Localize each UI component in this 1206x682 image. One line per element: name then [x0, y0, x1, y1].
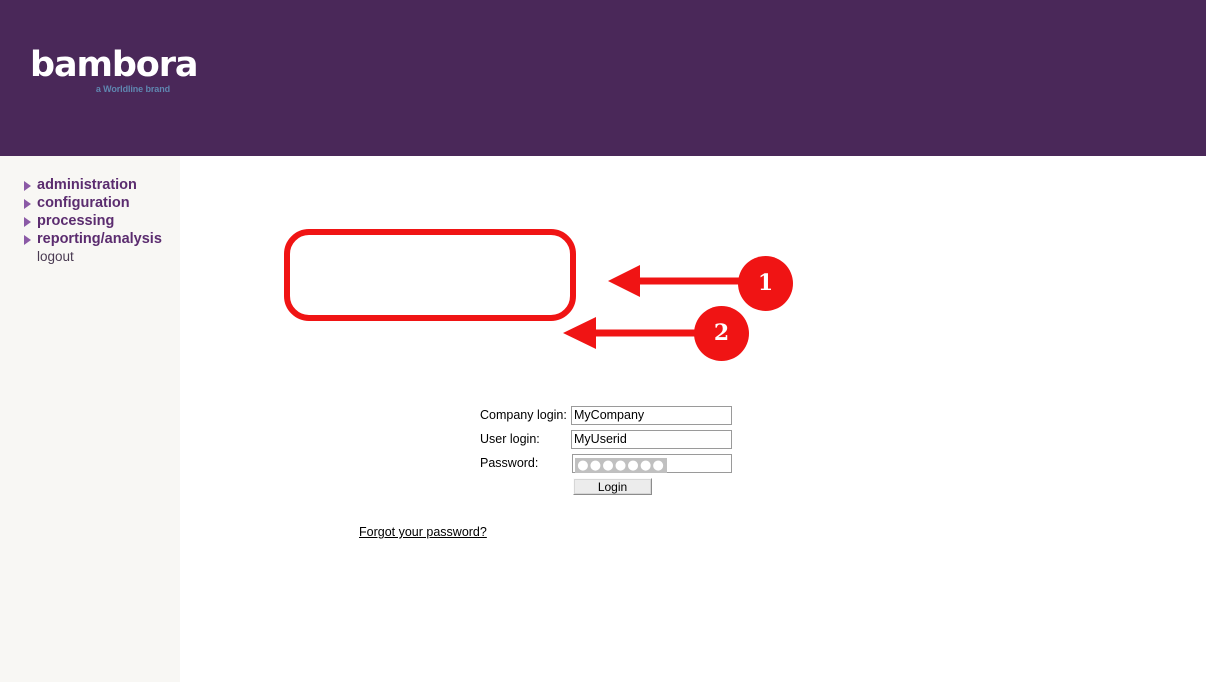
triangle-right-icon — [24, 199, 31, 209]
sidebar-item-label: configuration — [37, 195, 130, 211]
triangle-right-icon — [24, 181, 31, 191]
sidebar-item-label: logout — [37, 249, 74, 264]
bambora-logo: bambora a Worldline brand — [30, 47, 210, 97]
login-button[interactable]: Login — [573, 478, 652, 495]
forgot-password-link[interactable]: Forgot your password? — [359, 525, 487, 539]
sidebar-item-label: processing — [37, 213, 114, 229]
sidebar-item-configuration[interactable]: configuration — [0, 194, 180, 212]
user-login-row: User login: — [480, 427, 732, 451]
login-form: Company login: User login: Password: ●●●… — [480, 403, 732, 475]
logo-tagline: a Worldline brand — [30, 84, 170, 94]
nav-list: administration configuration processing … — [0, 176, 180, 266]
password-masked-value: ●●●●●●● — [575, 458, 667, 473]
sidebar-item-logout[interactable]: logout — [0, 248, 180, 266]
password-row: Password: ●●●●●●● — [480, 451, 732, 475]
sidebar-navigation: administration configuration processing … — [0, 156, 180, 682]
user-login-input[interactable] — [571, 430, 732, 449]
sidebar-item-processing[interactable]: processing — [0, 212, 180, 230]
logo-wordmark: bambora — [30, 47, 210, 83]
company-login-row: Company login: — [480, 403, 732, 427]
sidebar-item-reporting-analysis[interactable]: reporting/analysis — [0, 230, 180, 248]
sidebar-item-label: administration — [37, 177, 137, 193]
app-header: bambora a Worldline brand — [0, 0, 1206, 156]
triangle-right-icon — [24, 217, 31, 227]
password-input[interactable]: ●●●●●●● — [572, 454, 732, 473]
triangle-right-icon — [24, 235, 31, 245]
user-login-label: User login: — [480, 427, 571, 451]
sidebar-item-administration[interactable]: administration — [0, 176, 180, 194]
main-content: Company login: User login: Password: ●●●… — [180, 156, 1206, 682]
company-login-label: Company login: — [480, 403, 571, 427]
sidebar-item-label: reporting/analysis — [37, 231, 162, 247]
company-login-input[interactable] — [571, 406, 732, 425]
password-label: Password: — [480, 451, 572, 475]
